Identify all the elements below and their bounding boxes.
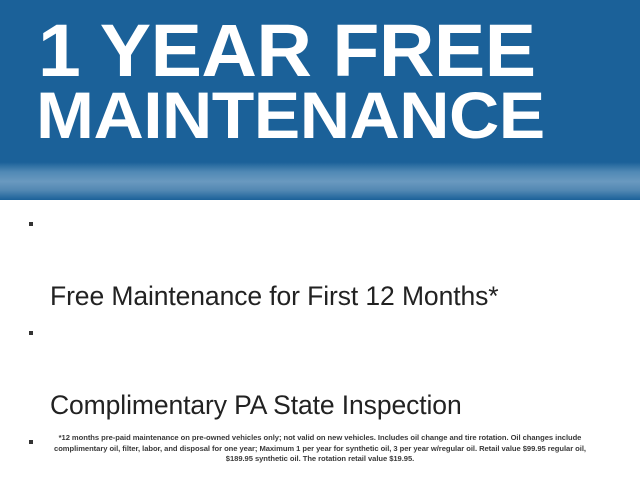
headline-line-2: MAINTENANCE — [36, 82, 545, 148]
maintenance-offer-ad: 1 YEAR FREE MAINTENANCE Free Maintenance… — [0, 0, 640, 480]
bullet-square-icon — [29, 222, 33, 226]
bullet-square-icon — [29, 440, 33, 444]
headline-banner: 1 YEAR FREE MAINTENANCE — [0, 0, 640, 200]
headline-line-1: 1 YEAR FREE — [38, 14, 536, 88]
bullet-square-icon — [29, 331, 33, 335]
list-item: Complimentary PA State Inspection — [0, 315, 640, 423]
disclaimer-text: *12 months pre-paid maintenance on pre-o… — [50, 433, 590, 465]
list-item-label: Free Maintenance for First 12 Months* — [50, 281, 498, 311]
headline-banner-solid: 1 YEAR FREE MAINTENANCE — [0, 0, 640, 163]
list-item: Free Maintenance for First 12 Months* — [0, 206, 640, 314]
list-item-label: Complimentary PA State Inspection — [50, 390, 462, 420]
